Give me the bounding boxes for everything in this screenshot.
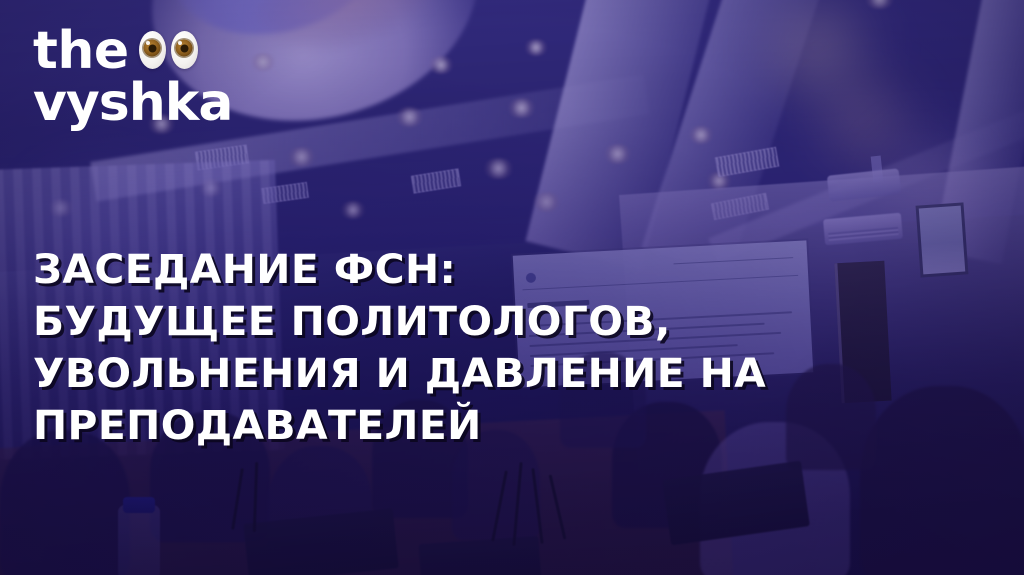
logo-bottom-row: vyshka [33, 80, 283, 136]
eyes-icon [139, 31, 198, 69]
pupil-left [148, 44, 156, 52]
headline-line-1: ЗАСЕДАНИЕ ФСН: [33, 244, 951, 296]
cover-headline: ЗАСЕДАНИЕ ФСН: БУДУЩЕЕ ПОЛИТОЛОГОВ, УВОЛ… [33, 244, 933, 452]
logo-word-the: the [33, 27, 129, 76]
headline-line-3: УВОЛЬНЕНИЯ И ДАВЛЕНИЕ НА [33, 348, 951, 400]
headline-line-4: ПРЕПОДАВАТЕЛЕЙ [33, 400, 951, 452]
logo-top-row: the [33, 24, 283, 80]
headline-line-2: БУДУЩЕЕ ПОЛИТОЛОГОВ, [33, 296, 951, 348]
brand-logo[interactable]: the vyshka [33, 24, 283, 136]
article-cover-image: the vyshka ЗАСЕДАНИЕ ФС [0, 0, 1024, 575]
logo-word-vyshka: vyshka [33, 79, 232, 128]
eye-right-icon [171, 31, 198, 69]
pupil-right [180, 44, 188, 52]
eye-left-icon [139, 31, 166, 69]
